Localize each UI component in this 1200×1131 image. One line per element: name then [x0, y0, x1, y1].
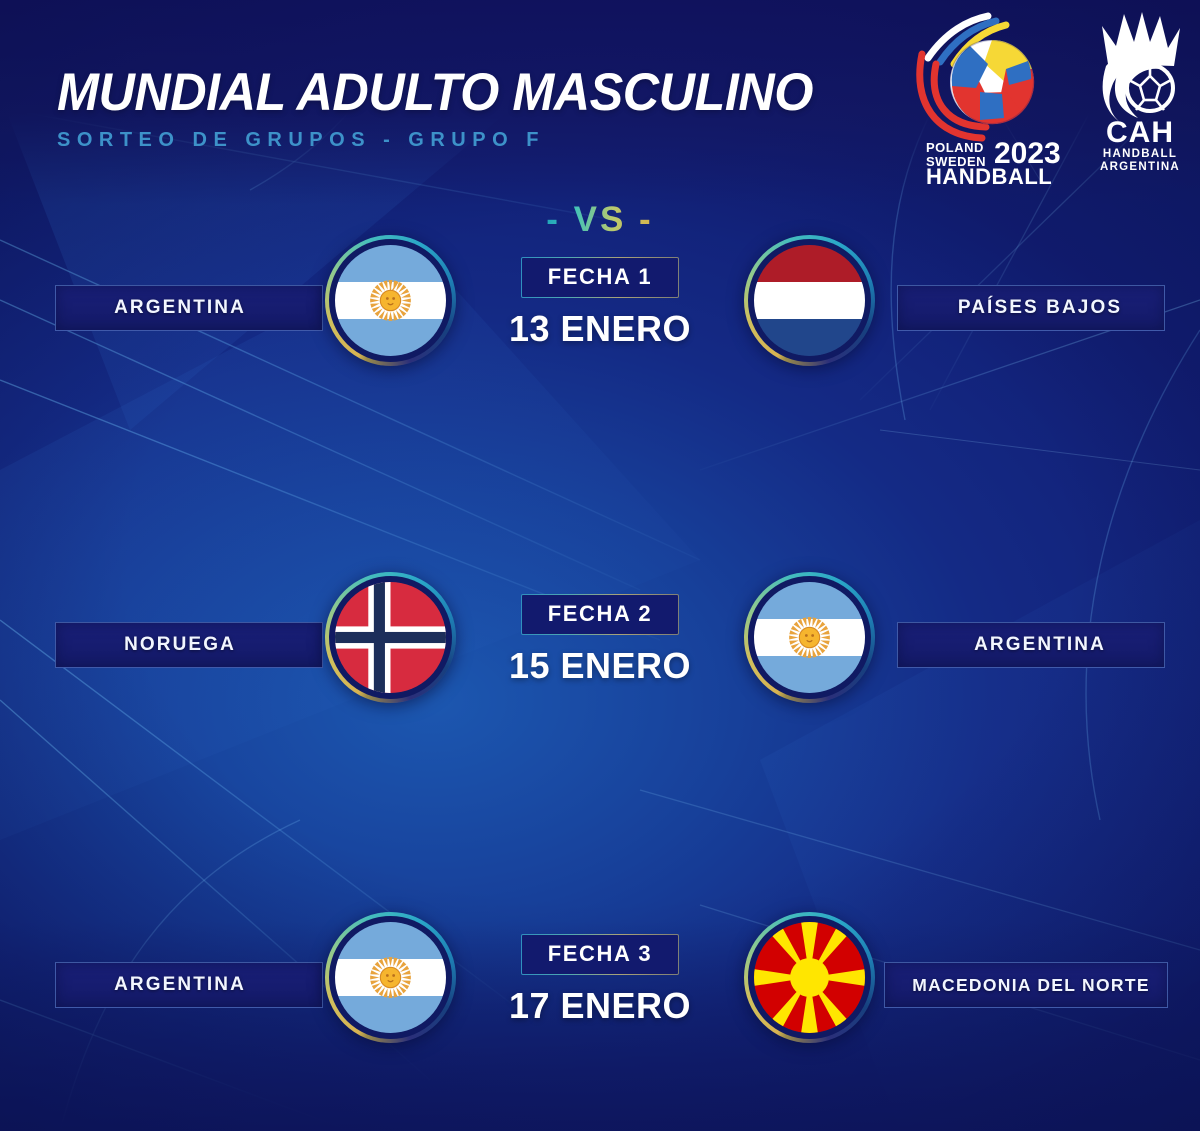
match-date: 13 ENERO [480, 308, 720, 350]
cah-line1: HANDBALL [1103, 148, 1177, 160]
wc-logo-line3: HANDBALL [926, 164, 1052, 186]
match-row: NORUEGA FECHA 2 15 ENERO [0, 572, 1200, 742]
home-team-flag [325, 235, 456, 366]
round-badge: FECHA 2 [521, 594, 680, 635]
away-team-name: ARGENTINA [974, 634, 1106, 656]
home-team-name: NORUEGA [124, 634, 236, 656]
home-team-name: ARGENTINA [114, 297, 246, 319]
away-team-bar[interactable]: ARGENTINA [897, 622, 1165, 668]
flag-argentina-icon [335, 922, 446, 1033]
away-team-flag [744, 572, 875, 703]
schedule-graphic: MUNDIAL ADULTO MASCULINO SORTEO DE GRUPO… [0, 0, 1200, 1131]
round-label: FECHA 3 [548, 941, 653, 966]
match-row: ARGENTINA [0, 235, 1200, 405]
vs-label: - VS - [546, 200, 653, 240]
page-subtitle: SORTEO DE GRUPOS - GRUPO F [57, 129, 853, 152]
header: MUNDIAL ADULTO MASCULINO SORTEO DE GRUPO… [57, 66, 853, 152]
cah-logo: CAH HANDBALL ARGENTINA [1088, 6, 1192, 176]
flag-north-macedonia-icon [754, 922, 865, 1033]
home-team-bar[interactable]: ARGENTINA [55, 962, 323, 1008]
away-team-flag [744, 235, 875, 366]
poland-sweden-2023-handball-logo: POLAND SWEDEN 2023 HANDBALL [910, 6, 1070, 186]
home-team-bar[interactable]: ARGENTINA [55, 285, 323, 331]
flag-norway-icon [335, 582, 446, 693]
match-center: FECHA 3 17 ENERO [480, 934, 720, 1027]
wc-logo-line1: POLAND [926, 140, 984, 155]
cah-acronym: CAH [1106, 116, 1174, 149]
home-team-flag [325, 572, 456, 703]
home-team-flag [325, 912, 456, 1043]
flag-argentina-icon [754, 582, 865, 693]
away-team-name: PAÍSES BAJOS [958, 297, 1122, 319]
away-team-flag [744, 912, 875, 1043]
cah-line2: ARGENTINA [1100, 161, 1180, 173]
match-center: FECHA 2 15 ENERO [480, 594, 720, 687]
flag-netherlands-icon [754, 245, 865, 356]
vs-label-wrap: - VS - [0, 200, 1200, 240]
round-badge: FECHA 1 [521, 257, 680, 298]
flag-argentina-icon [335, 245, 446, 356]
round-label: FECHA 2 [548, 601, 653, 626]
match-date: 15 ENERO [480, 645, 720, 687]
match-row: ARGENTINA [0, 912, 1200, 1082]
round-badge: FECHA 3 [521, 934, 680, 975]
match-date: 17 ENERO [480, 985, 720, 1027]
home-team-name: ARGENTINA [114, 974, 246, 996]
logo-group: POLAND SWEDEN 2023 HANDBALL [910, 6, 1192, 186]
round-label: FECHA 1 [548, 264, 653, 289]
match-center: FECHA 1 13 ENERO [480, 257, 720, 350]
away-team-bar[interactable]: PAÍSES BAJOS [897, 285, 1165, 331]
away-team-bar[interactable]: MACEDONIA DEL NORTE [884, 962, 1168, 1008]
home-team-bar[interactable]: NORUEGA [55, 622, 323, 668]
away-team-name: MACEDONIA DEL NORTE [912, 975, 1150, 996]
page-title: MUNDIAL ADULTO MASCULINO [57, 66, 813, 119]
